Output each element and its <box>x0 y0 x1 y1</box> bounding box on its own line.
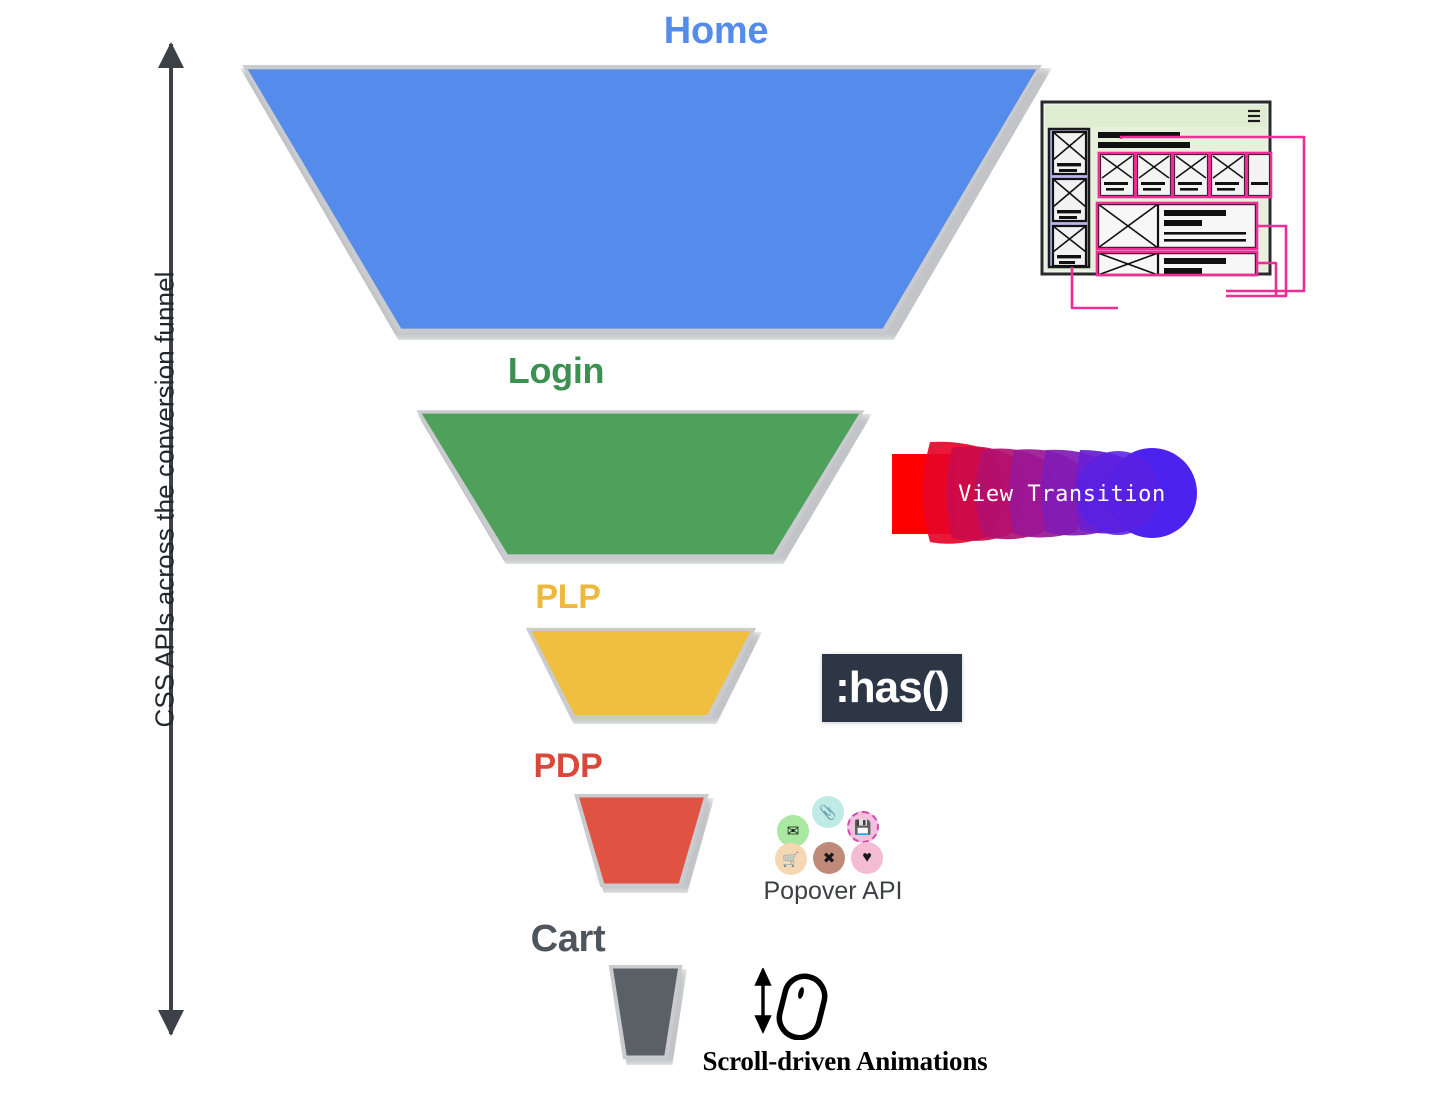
floppy-disk-icon[interactable]: 💾 <box>847 811 879 843</box>
view-transition-figure: View Transition <box>890 438 1212 550</box>
funnel-label-login: Login <box>0 353 1272 389</box>
funnel-stage-login: Login <box>0 345 1432 570</box>
scroll-driven-figure <box>748 968 838 1040</box>
paperclip-icon[interactable]: 📎 <box>812 796 844 828</box>
scroll-driven-label: Scroll-driven Animations <box>600 1046 1090 1077</box>
funnel-shape-login <box>413 409 868 559</box>
funnel-label-home: Home <box>0 12 1432 50</box>
funnel-stage-plp: PLP <box>0 570 1432 735</box>
shopping-cart-icon[interactable]: 🛒 <box>775 843 807 875</box>
view-transition-label: View Transition <box>890 438 1212 550</box>
mouse-icon <box>775 972 829 1040</box>
funnel-stage-pdp: PDP <box>0 735 1432 900</box>
funnel-diagram-canvas: CSS APIs across the conversion funnel Ho… <box>0 0 1432 1094</box>
close-x-icon[interactable]: ✖ <box>813 842 845 874</box>
funnel-shape-home <box>236 63 1048 335</box>
funnel-label-pdp: PDP <box>0 749 1284 783</box>
has-selector-badge: :has() <box>822 654 962 722</box>
container-query-wireframe <box>1036 96 1308 334</box>
funnel-shape-pdp <box>573 793 710 888</box>
popover-api-label: Popover API <box>703 877 963 906</box>
funnel-shape-plp <box>524 627 758 719</box>
heart-icon[interactable]: ♥ <box>851 842 883 874</box>
container-query-figure: container query <box>1036 96 1308 334</box>
vertical-double-arrow-icon <box>757 971 769 1030</box>
funnel-label-cart: Cart <box>0 920 1284 958</box>
funnel-label-plp: PLP <box>0 580 1284 614</box>
popover-api-figure: ✉ 📎 💾 🛒 ✖ ♥ <box>775 793 885 873</box>
mouse-scroll-icon-group <box>748 968 838 1040</box>
